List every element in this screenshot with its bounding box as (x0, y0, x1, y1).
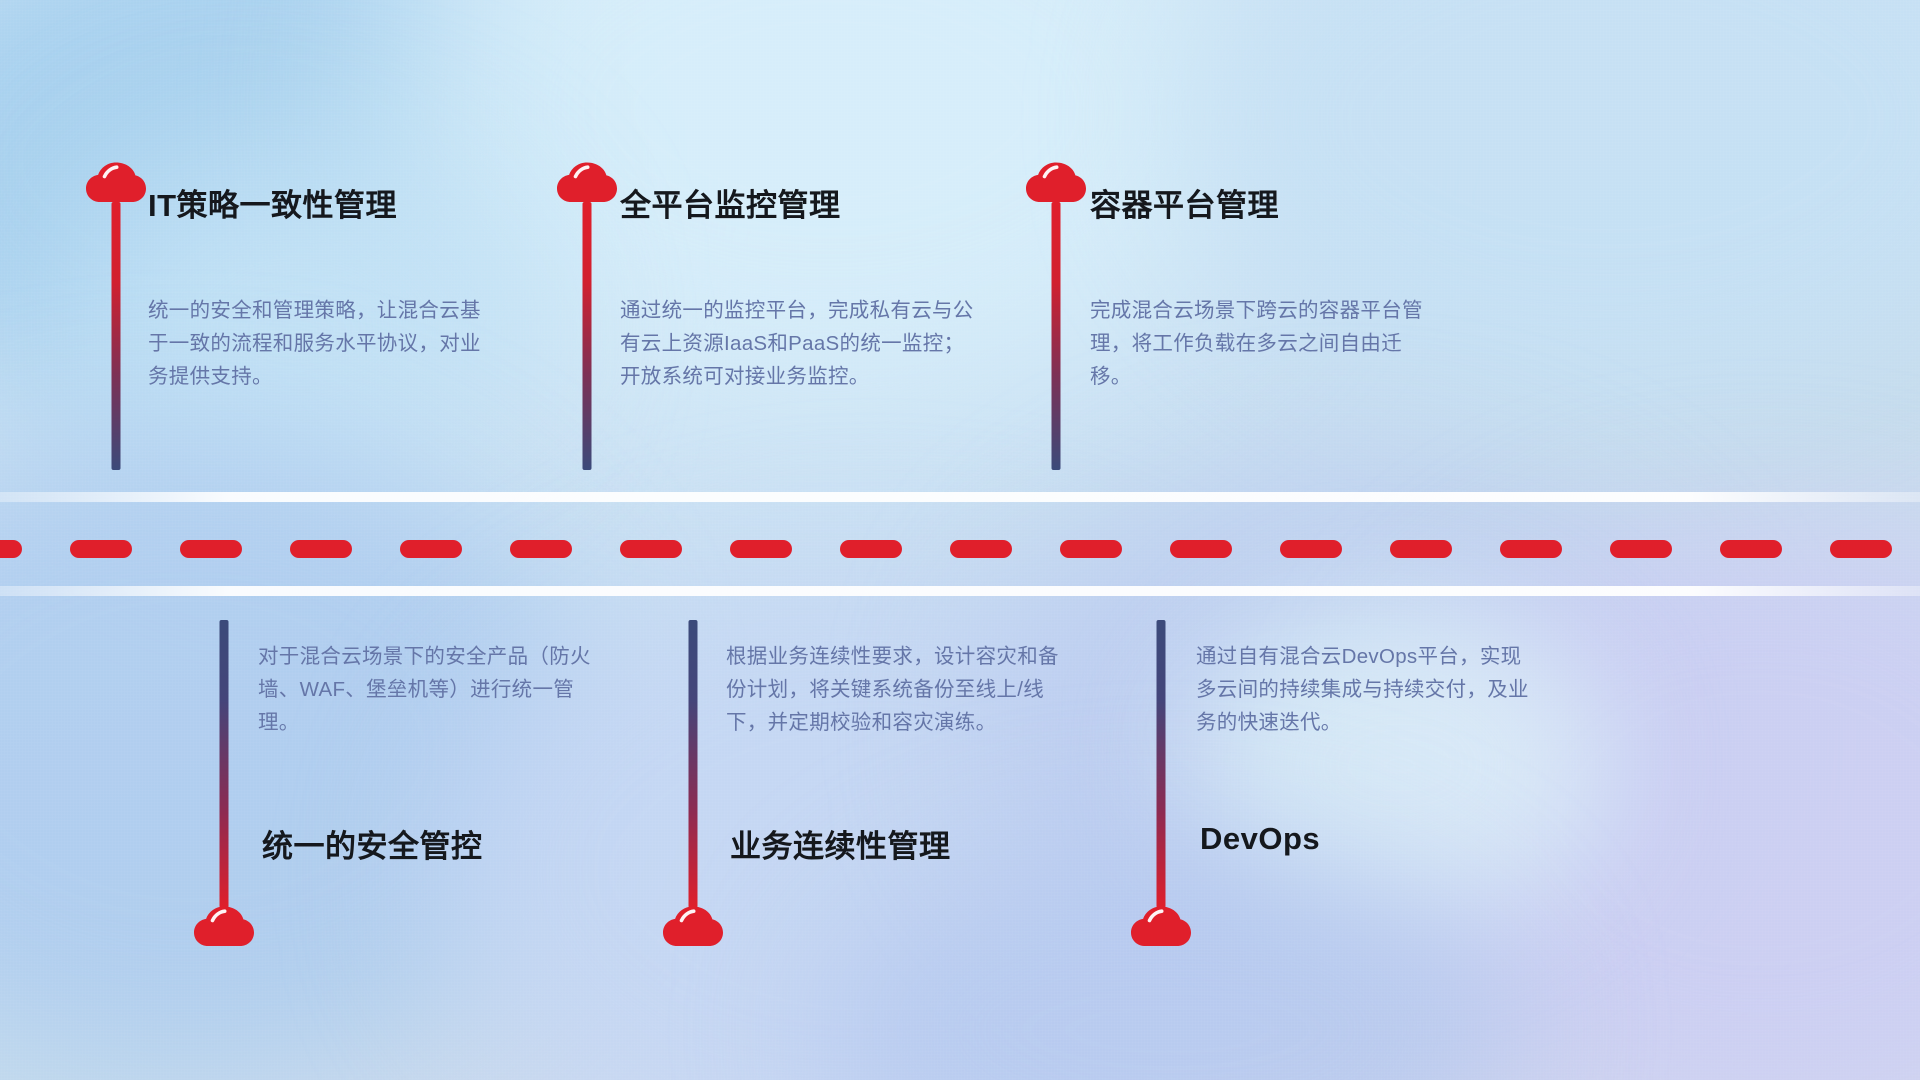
cloud-pin-container-platform (1025, 160, 1087, 470)
road-dash-segment (510, 540, 572, 558)
road-dash-segment (1610, 540, 1672, 558)
road-dash-segment (1830, 540, 1892, 558)
road-dash-segment (730, 540, 792, 558)
road-dash-segment (1170, 540, 1232, 558)
road-dash-segment (1390, 540, 1452, 558)
road-dash-segment (1280, 540, 1342, 558)
cloud-pin-it-policy-consistency (85, 160, 147, 470)
cloud-pin-icon (193, 904, 255, 950)
road-dash-segment (1500, 540, 1562, 558)
infographic-canvas: IT策略一致性管理 统一的安全和管理策略，让混合云基于一致的流程和服务水平协议，… (0, 0, 1920, 1080)
cloud-pin-unified-security-control (193, 620, 255, 950)
description-business-continuity: 根据业务连续性要求，设计容灾和备份计划，将关键系统备份至线上/线下，并定期校验和… (726, 640, 1066, 739)
cloud-pin-devops (1130, 620, 1192, 950)
cloud-pin-business-continuity (662, 620, 724, 950)
pin-stem-icon (220, 620, 229, 908)
description-full-platform-monitoring: 通过统一的监控平台，完成私有云与公有云上资源IaaS和PaaS的统一监控；开放系… (620, 294, 978, 393)
road-band-top (0, 492, 1920, 502)
road-dashed-line (0, 540, 1920, 558)
road-dash-segment (620, 540, 682, 558)
page-title-container-platform: 容器平台管理 (1090, 180, 1279, 225)
road-dash-segment (70, 540, 132, 558)
pin-stem-icon (1052, 202, 1061, 470)
cloud-pin-icon (1025, 160, 1087, 206)
page-title-it-policy-consistency: IT策略一致性管理 (148, 180, 397, 225)
road-dash-segment (290, 540, 352, 558)
pin-stem-icon (689, 620, 698, 908)
cloud-pin-full-platform-monitoring (556, 160, 618, 470)
page-title-unified-security-control: 统一的安全管控 (262, 821, 483, 866)
cloud-pin-icon (556, 160, 618, 206)
pin-stem-icon (1157, 620, 1166, 908)
road-dash-segment (400, 540, 462, 558)
cloud-pin-icon (85, 160, 147, 206)
road-dash-segment (1060, 540, 1122, 558)
road-band-bottom (0, 586, 1920, 596)
page-title-devops: DevOps (1200, 821, 1320, 857)
description-it-policy-consistency: 统一的安全和管理策略，让混合云基于一致的流程和服务水平协议，对业务提供支持。 (148, 294, 498, 393)
road-dash-segment (1720, 540, 1782, 558)
road-dash-segment (0, 540, 22, 558)
pin-stem-icon (112, 202, 121, 470)
description-devops: 通过自有混合云DevOps平台，实现多云间的持续集成与持续交付，及业务的快速迭代… (1196, 640, 1536, 739)
page-title-business-continuity: 业务连续性管理 (730, 821, 951, 866)
road-dash-segment (840, 540, 902, 558)
pin-stem-icon (583, 202, 592, 470)
page-title-full-platform-monitoring: 全平台监控管理 (620, 180, 841, 225)
road-dash-segment (180, 540, 242, 558)
description-container-platform: 完成混合云场景下跨云的容器平台管理，将工作负载在多云之间自由迁移。 (1090, 294, 1442, 393)
road-dash-segment (950, 540, 1012, 558)
cloud-pin-icon (1130, 904, 1192, 950)
description-unified-security-control: 对于混合云场景下的安全产品（防火墙、WAF、堡垒机等）进行统一管理。 (258, 640, 606, 739)
cloud-pin-icon (662, 904, 724, 950)
